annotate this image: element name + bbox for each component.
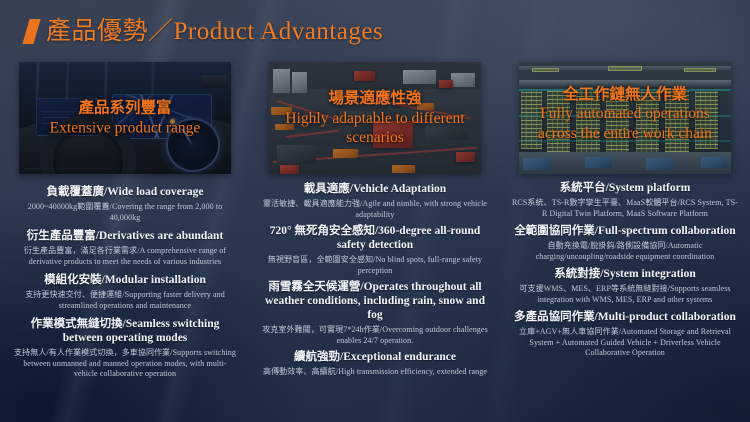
feature-title: 載具適應/Vehicle Adaptation bbox=[262, 182, 488, 196]
feature-column-scenario-adaptability: 場景適應性強 Highly adaptable to different sce… bbox=[250, 62, 500, 418]
feature-title: 多產品協同作業/Multi-product collaboration bbox=[512, 310, 738, 324]
feature-description: 靈活敏捷、載具適應能力強/Agile and nimble, with stro… bbox=[262, 199, 488, 220]
feature-item: 衍生產品豐富/Derivatives are abundant 衍生產品豐富，滿… bbox=[12, 229, 238, 267]
feature-columns: 產品系列豐富 Extensive product range 負載覆蓋廣/Wid… bbox=[0, 62, 750, 418]
column-heading-en: Extensive product range bbox=[22, 118, 228, 138]
automated-warehouse-racking-photo: 全工作鏈無人作業 Fully automated operations acro… bbox=[519, 62, 731, 174]
feature-description: 衍生產品豐富，滿足各行業需求/A comprehensive range of … bbox=[12, 246, 238, 267]
column-heading: 產品系列豐富 Extensive product range bbox=[19, 99, 231, 138]
feature-title: 系統平台/System platform bbox=[512, 181, 738, 195]
feature-item: 續航強勁/Exceptional endurance 高傳動效率、高續航/Hig… bbox=[262, 350, 488, 378]
feature-title: 720° 無死角安全感知/360-degree all-round safety… bbox=[262, 224, 488, 252]
feature-item: 作業模式無縫切換/Seamless switching between oper… bbox=[12, 317, 238, 380]
feature-title: 作業模式無縫切換/Seamless switching between oper… bbox=[12, 317, 238, 345]
page-title-text: 產品優勢／Product Advantages bbox=[46, 18, 383, 45]
feature-title: 模組化安裝/Modular installation bbox=[12, 273, 238, 287]
feature-item: 負載覆蓋廣/Wide load coverage 2000~40000kg範圍覆… bbox=[12, 185, 238, 223]
title-accent-bar bbox=[22, 19, 40, 44]
column-heading-cn: 產品系列豐富 bbox=[22, 99, 228, 119]
slide-canvas: 產品優勢／Product Advantages 產品系列豐富 Extensi bbox=[0, 0, 750, 422]
feature-description: 2000~40000kg範圍覆蓋/Covering the range from… bbox=[12, 202, 238, 223]
feature-column-product-range: 產品系列豐富 Extensive product range 負載覆蓋廣/Wid… bbox=[0, 62, 250, 418]
feature-item: 模組化安裝/Modular installation 支持更快速交付、便捷運維/… bbox=[12, 273, 238, 311]
feature-item: 載具適應/Vehicle Adaptation 靈活敏捷、載具適應能力強/Agi… bbox=[262, 182, 488, 220]
feature-list: 負載覆蓋廣/Wide load coverage 2000~40000kg範圍覆… bbox=[8, 174, 242, 380]
feature-title: 負載覆蓋廣/Wide load coverage bbox=[12, 185, 238, 199]
feature-item: 全範圍協同作業/Full-spectrum collaboration 自動充換… bbox=[512, 224, 738, 262]
feature-description: 支持無人/有人作業模式切換，多車協同作業/Supports switching … bbox=[12, 348, 238, 380]
feature-description: RCS系統、TS-R數字孿生平臺、MaaS軟體平台/RCS System, TS… bbox=[512, 198, 738, 219]
column-heading-en: Fully automated operations across the en… bbox=[522, 104, 728, 143]
column-heading-en: Highly adaptable to different scenarios bbox=[272, 108, 478, 147]
feature-description: 高傳動效率、高續航/High transmission efficiency, … bbox=[262, 367, 488, 378]
feature-item: 多產品協同作業/Multi-product collaboration 立庫+A… bbox=[512, 310, 738, 359]
feature-title: 續航強勁/Exceptional endurance bbox=[262, 350, 488, 364]
column-heading: 場景適應性強 Highly adaptable to different sce… bbox=[269, 89, 481, 148]
column-heading-cn: 場景適應性強 bbox=[272, 89, 478, 109]
feature-description: 攻克室外難關，可實現7*24h作業/Overcoming outdoor cha… bbox=[262, 325, 488, 346]
feature-item: 系統對接/System integration 可支援WMS、MES、ERP等系… bbox=[512, 267, 738, 305]
column-heading-cn: 全工作鏈無人作業 bbox=[522, 84, 728, 104]
feature-column-full-chain-automation: 全工作鏈無人作業 Fully automated operations acro… bbox=[500, 62, 750, 418]
feature-item: 系統平台/System platform RCS系統、TS-R數字孿生平臺、Ma… bbox=[512, 181, 738, 219]
feature-item: 720° 無死角安全感知/360-degree all-round safety… bbox=[262, 224, 488, 276]
column-heading: 全工作鏈無人作業 Fully automated operations acro… bbox=[519, 84, 731, 143]
feature-description: 支持更快速交付、便捷運維/Supporting faster delivery … bbox=[12, 290, 238, 311]
feature-description: 可支援WMS、MES、ERP等系統無縫對接/Supports seamless … bbox=[512, 284, 738, 305]
feature-title: 系統對接/System integration bbox=[512, 267, 738, 281]
logistics-yard-illustration: 場景適應性強 Highly adaptable to different sce… bbox=[269, 62, 481, 174]
feature-description: 自動充換電/脫掛鈎/路側設備協同/Automatic charging/unco… bbox=[512, 241, 738, 262]
feature-title: 全範圍協同作業/Full-spectrum collaboration bbox=[512, 224, 738, 238]
feature-list: 系統平台/System platform RCS系統、TS-R數字孿生平臺、Ma… bbox=[508, 174, 742, 359]
page-title: 產品優勢／Product Advantages bbox=[26, 18, 383, 45]
vehicle-cockpit-photo: 產品系列豐富 Extensive product range bbox=[19, 62, 231, 174]
feature-item: 雨雪霧全天候運營/Operates throughout all weather… bbox=[262, 280, 488, 346]
feature-description: 立庫+AGV+無人車協同作業/Automated Storage and Ret… bbox=[512, 327, 738, 359]
feature-list: 載具適應/Vehicle Adaptation 靈活敏捷、載具適應能力強/Agi… bbox=[258, 174, 492, 378]
feature-title: 衍生產品豐富/Derivatives are abundant bbox=[12, 229, 238, 243]
feature-description: 無視野盲區，全範圍安全感知/No blind spots, full-range… bbox=[262, 255, 488, 276]
feature-title: 雨雪霧全天候運營/Operates throughout all weather… bbox=[262, 280, 488, 322]
